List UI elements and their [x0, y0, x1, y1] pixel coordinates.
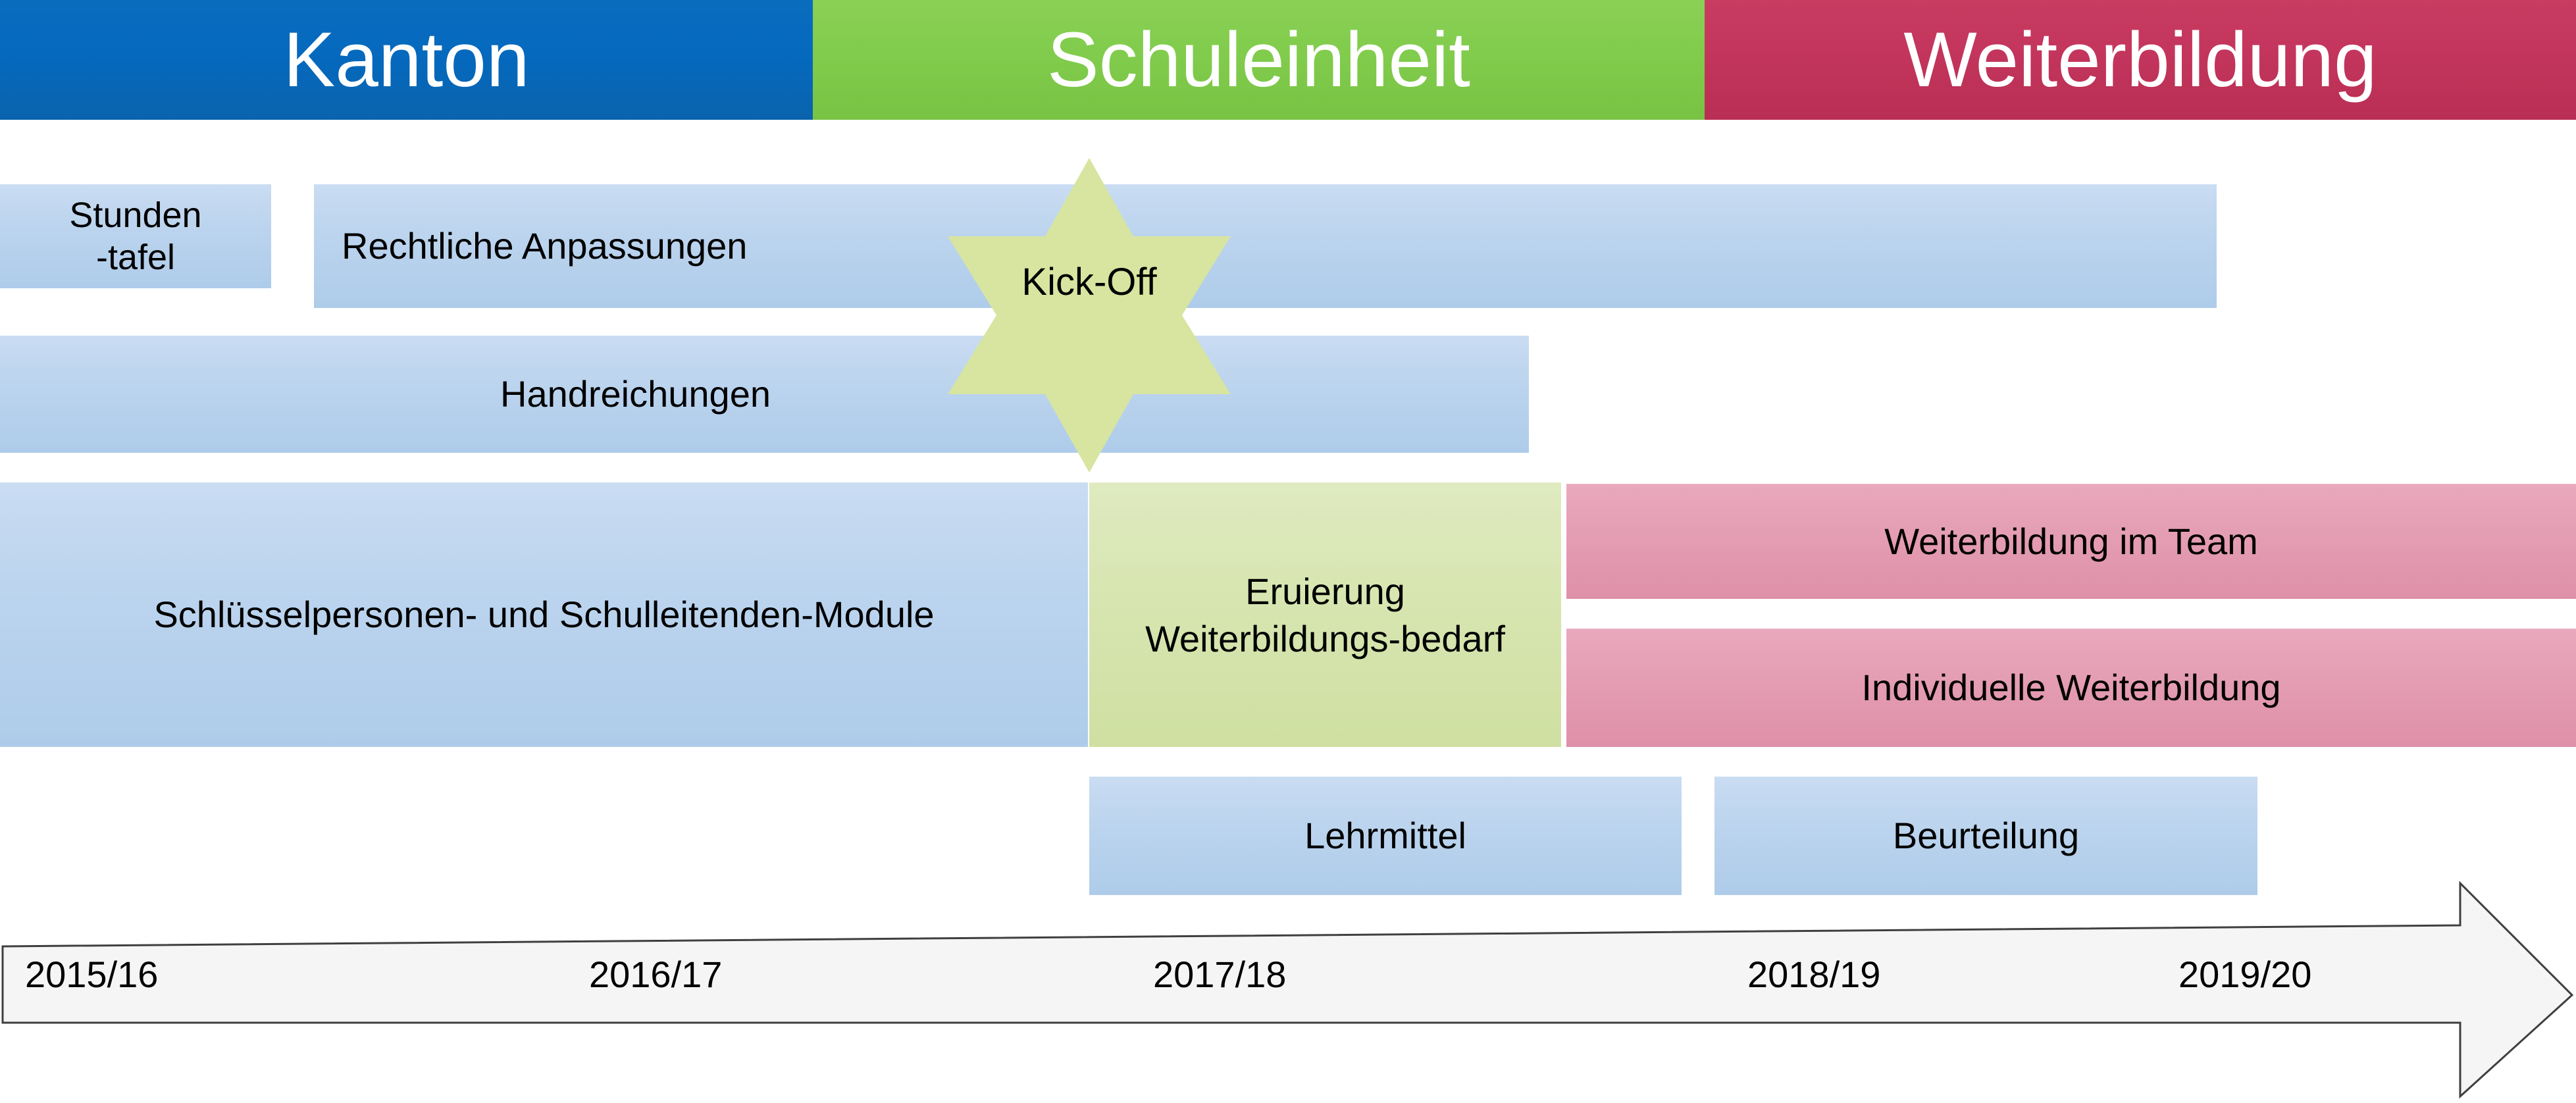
bar-stundentafel-label: Stunden -tafel — [69, 195, 201, 278]
header-column-schuleinheit: Schuleinheit — [813, 0, 1705, 120]
bar-schluesselpersonen-module: Schlüsselpersonen- und Schulleitenden-Mo… — [0, 482, 1088, 747]
bar-rechtliche-anpassungen: Rechtliche Anpassungen — [314, 184, 2217, 308]
bar-weiterbildung-im-team: Weiterbildung im Team — [1566, 484, 2576, 599]
milestone-kickoff-label: Kick-Off — [948, 263, 1231, 301]
bar-schluesselpersonen-module-label: Schlüsselpersonen- und Schulleitenden-Mo… — [153, 593, 934, 636]
six-pointed-star-shape — [948, 158, 1231, 473]
header-column-weiterbildung: Weiterbildung — [1705, 0, 2576, 120]
bar-beurteilung-label: Beurteilung — [1893, 814, 2079, 858]
bar-eruierung-weiterbildungsbedarf-label: Eruierung Weiterbildungs-bedarf — [1115, 568, 1536, 662]
timeline-year-2017-18: 2017/18 — [1153, 956, 1286, 993]
timeline-year-2019-20: 2019/20 — [2178, 956, 2311, 993]
timeline-year-2016-17: 2016/17 — [589, 956, 722, 993]
bar-weiterbildung-im-team-label: Weiterbildung im Team — [1884, 520, 2258, 563]
star-polygon — [948, 158, 1231, 473]
timeline-roadmap-diagram: Kanton Schuleinheit Weiterbildung Stunde… — [0, 0, 2576, 1103]
header-column-schuleinheit-label: Schuleinheit — [1047, 21, 1470, 99]
bar-lehrmittel-label: Lehrmittel — [1304, 814, 1466, 858]
bar-individuelle-weiterbildung-label: Individuelle Weiterbildung — [1861, 666, 2280, 709]
timeline-year-2015-16: 2015/16 — [25, 956, 158, 993]
header-column-kanton: Kanton — [0, 0, 813, 120]
bar-individuelle-weiterbildung: Individuelle Weiterbildung — [1566, 628, 2576, 747]
header-column-weiterbildung-label: Weiterbildung — [1903, 21, 2377, 99]
bar-handreichungen-label: Handreichungen — [500, 372, 771, 416]
six-pointed-star-icon — [948, 158, 1231, 473]
header-column-kanton-label: Kanton — [284, 21, 530, 99]
bar-stundentafel: Stunden -tafel — [0, 184, 271, 288]
bar-handreichungen: Handreichungen — [0, 336, 1529, 453]
timeline-year-2018-19: 2018/19 — [1747, 956, 1880, 993]
bar-eruierung-weiterbildungsbedarf: Eruierung Weiterbildungs-bedarf — [1089, 482, 1561, 747]
bar-rechtliche-anpassungen-label: Rechtliche Anpassungen — [342, 224, 747, 268]
